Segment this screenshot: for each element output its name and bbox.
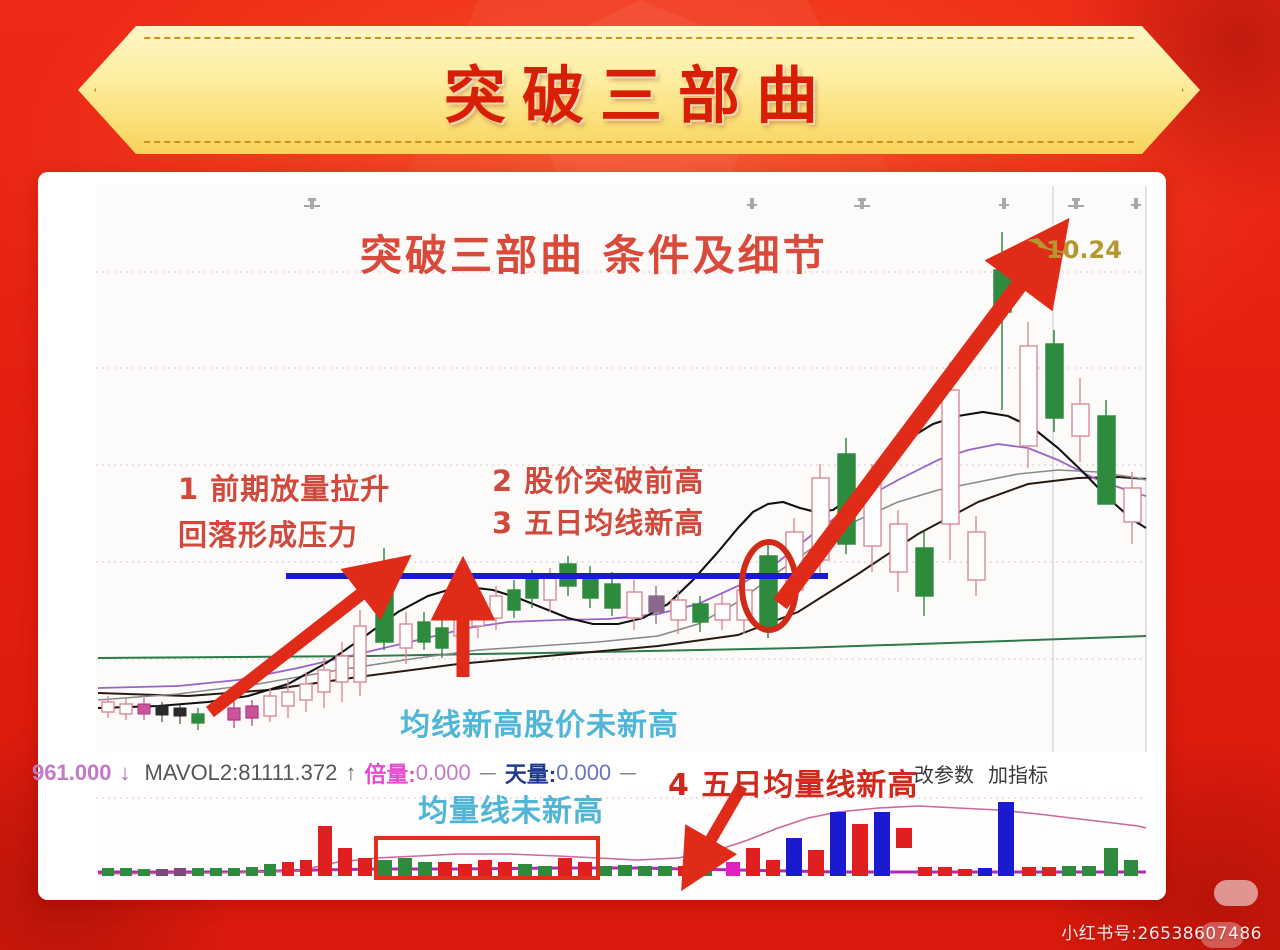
chart-headline: 突破三部曲 条件及细节 (360, 222, 828, 283)
separator-dash: － (617, 757, 639, 789)
arrow-up-icon: ↑ (345, 760, 356, 786)
watermark-badge (1214, 880, 1258, 906)
watermark-text: 小红书号:26538607486 (1061, 919, 1262, 944)
annotation-cyan-1: 均线新高股价未新高 (400, 700, 679, 744)
separator-dash: － (477, 757, 499, 789)
page-root: 突破三部曲 (0, 0, 1280, 950)
title-banner: 突破三部曲 (78, 26, 1200, 154)
annotation-2: 2 股价突破前高 (492, 458, 704, 500)
add-indicator-button[interactable]: 加指标 (988, 759, 1048, 788)
annotation-1-line2: 回落形成压力 (178, 512, 358, 554)
tianliang-key: 天量: (505, 757, 556, 789)
banner-title-text: 突破三部曲 (78, 26, 1200, 154)
indicator-bar: 961.000 ↓ MAVOL2:81111.372 ↑ 倍量: 0.000 －… (38, 752, 1166, 794)
annotation-1-line1: 1 前期放量拉升 (178, 466, 390, 508)
tianliang-value: 0.000 (556, 760, 611, 786)
indicator-buttons: 改参数 加指标 (914, 759, 1166, 788)
indicator-value: 961.000 (32, 760, 112, 786)
beiliang-value: 0.000 (416, 760, 471, 786)
price-label: 10.24 (1046, 236, 1122, 264)
arrow-down-icon: ↓ (120, 760, 131, 786)
beiliang-key: 倍量: (364, 757, 415, 789)
change-params-button[interactable]: 改参数 (914, 759, 974, 788)
mavol2-label: MAVOL2:81111.372 (145, 760, 338, 786)
annotation-3: 3 五日均线新高 (492, 500, 704, 542)
